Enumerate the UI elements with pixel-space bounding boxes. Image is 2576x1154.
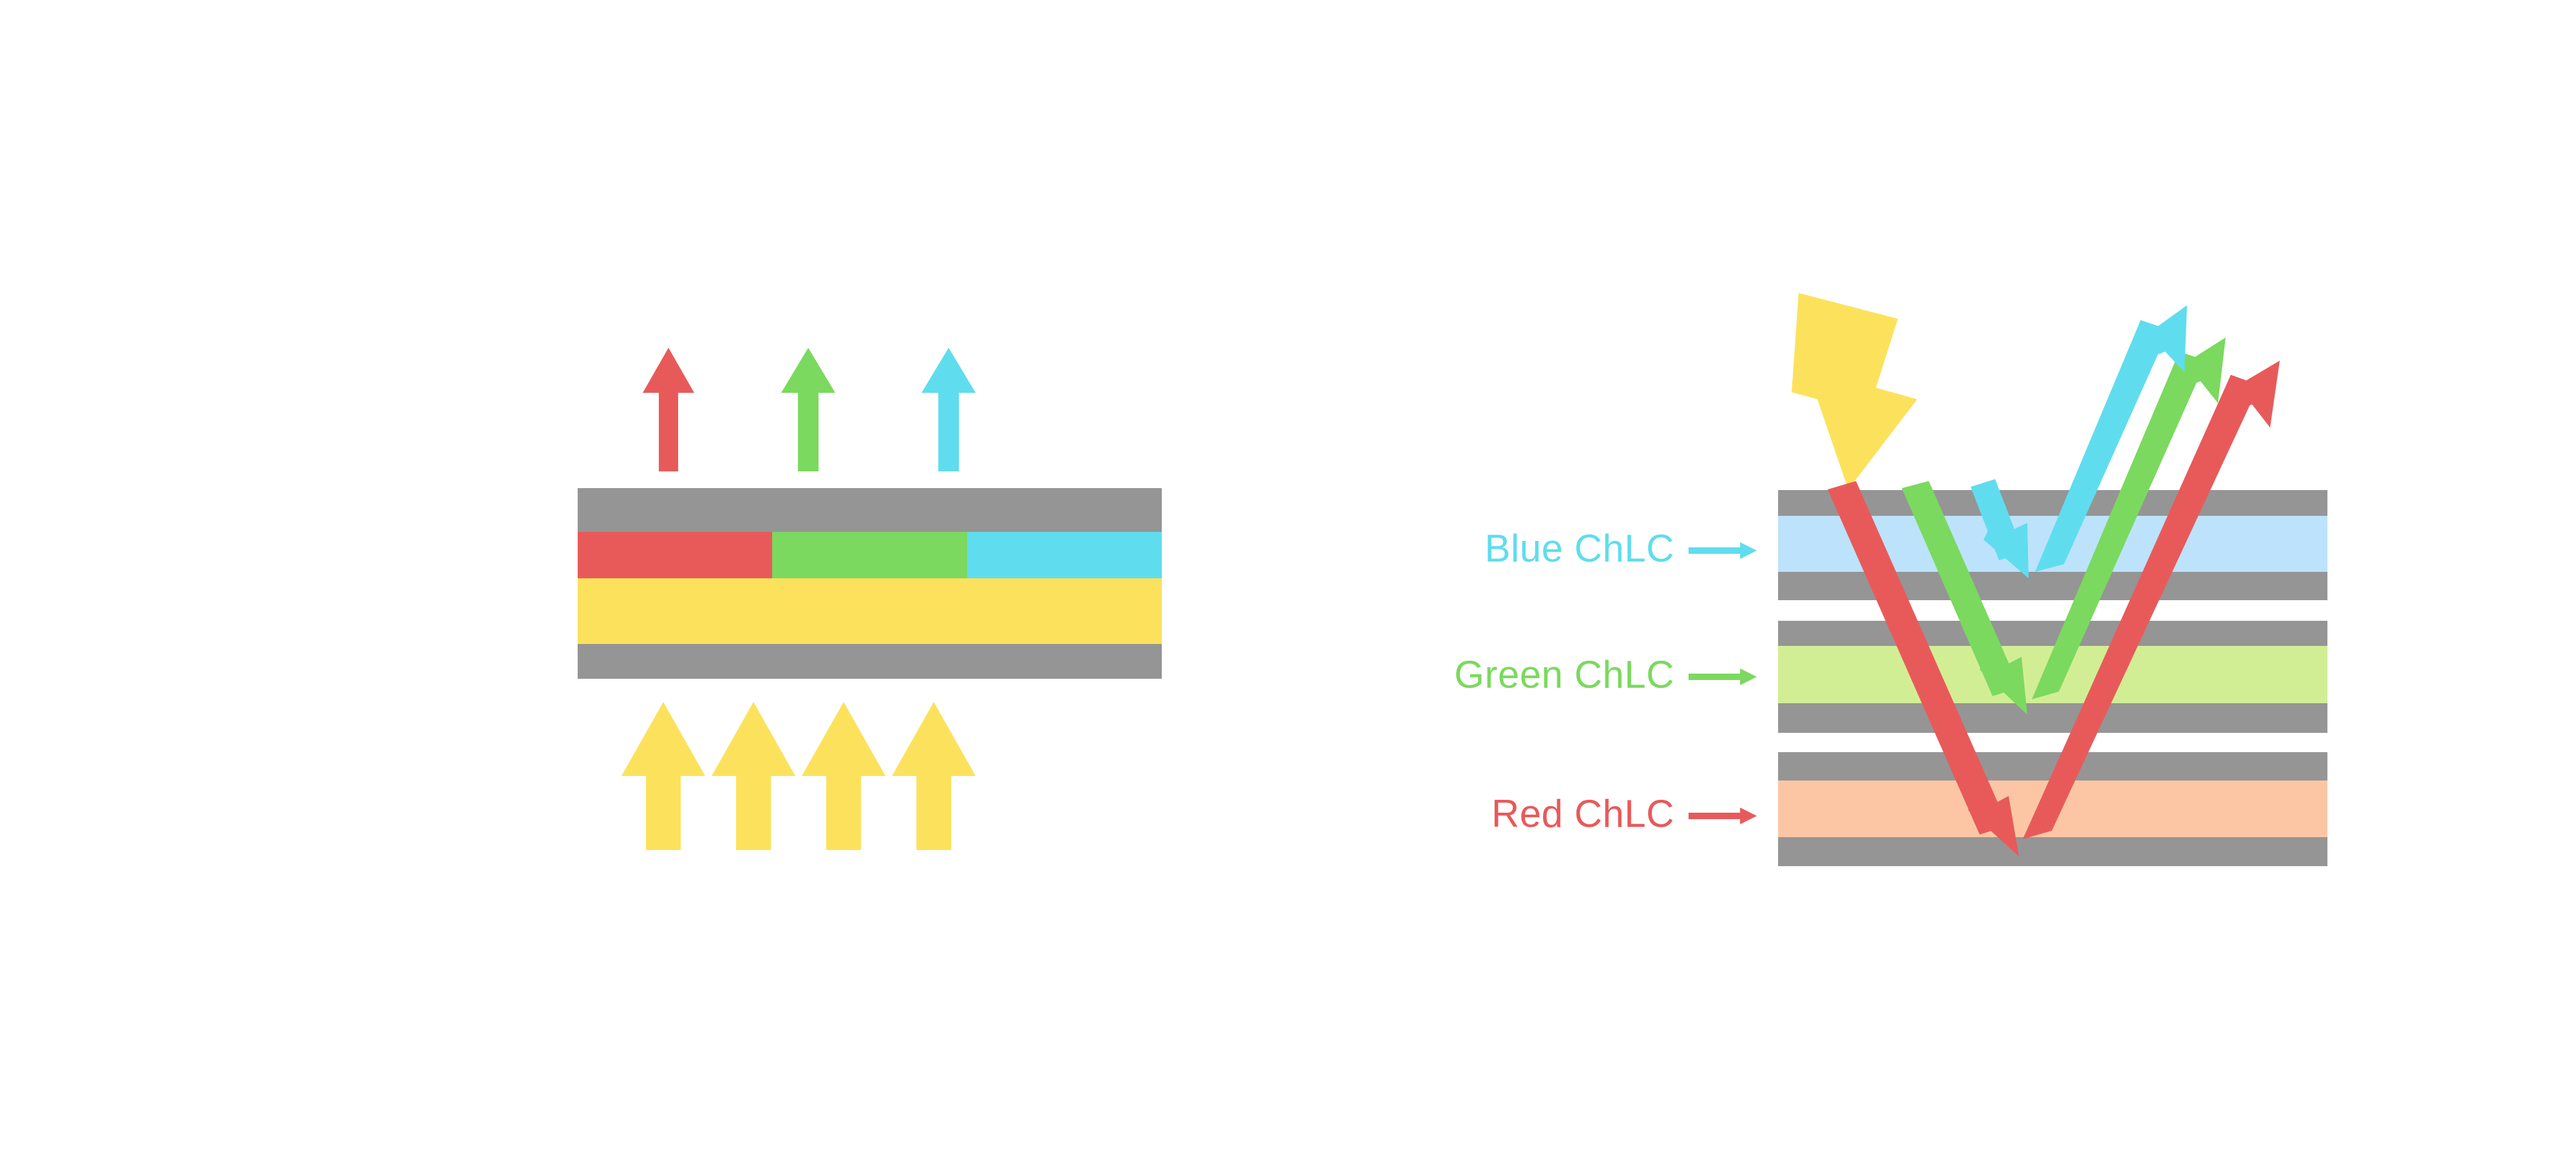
backlight-ray-3 xyxy=(802,702,885,850)
red-chlc-label-arrow-icon xyxy=(1689,808,1757,824)
right-panel: Blue ChLC Green ChLC Red ChLC xyxy=(1454,293,2327,866)
left-bottom-electrode xyxy=(578,644,1162,679)
incident-white-light-ray xyxy=(1792,293,1917,489)
blue-cell-bottom-electrode xyxy=(1778,572,2327,600)
diagram-svg: Blue ChLC Green ChLC Red ChLC xyxy=(0,0,2576,1154)
left-emitted-arrows xyxy=(643,348,976,471)
left-color-filter-red xyxy=(578,532,772,578)
emitted-green-ray xyxy=(781,348,835,471)
green-cell-bottom-electrode xyxy=(1778,703,2327,733)
red-cell-bottom-electrode xyxy=(1778,837,2327,866)
green-cell-top-electrode xyxy=(1778,621,2327,646)
backlight-ray-2 xyxy=(712,702,795,850)
backlight-ray-4 xyxy=(892,702,976,850)
left-stack xyxy=(578,488,1162,679)
blue-chlc-label-arrow-icon xyxy=(1689,542,1757,559)
left-panel xyxy=(578,348,1162,850)
left-color-filter-blue xyxy=(967,532,1162,578)
emitted-red-ray xyxy=(643,348,694,471)
left-backlight-arrows xyxy=(621,702,976,850)
left-backlight-layer xyxy=(578,578,1162,644)
right-panel-labels: Blue ChLC Green ChLC Red ChLC xyxy=(1454,527,1757,835)
blue-chlc-label-group: Blue ChLC xyxy=(1484,527,1757,570)
green-chlc-label-group: Green ChLC xyxy=(1454,653,1757,696)
left-top-electrode xyxy=(578,488,1162,532)
red-chlc-label: Red ChLC xyxy=(1492,792,1674,835)
green-chlc-label-arrow-icon xyxy=(1689,668,1757,685)
red-chlc-label-group: Red ChLC xyxy=(1492,792,1757,835)
backlight-ray-1 xyxy=(621,702,705,850)
figure-canvas: Blue ChLC Green ChLC Red ChLC xyxy=(0,0,2576,1154)
blue-chlc-label: Blue ChLC xyxy=(1484,527,1674,570)
green-chlc-label: Green ChLC xyxy=(1454,653,1674,696)
emitted-blue-ray xyxy=(922,348,976,471)
left-color-filter-green xyxy=(772,532,967,578)
